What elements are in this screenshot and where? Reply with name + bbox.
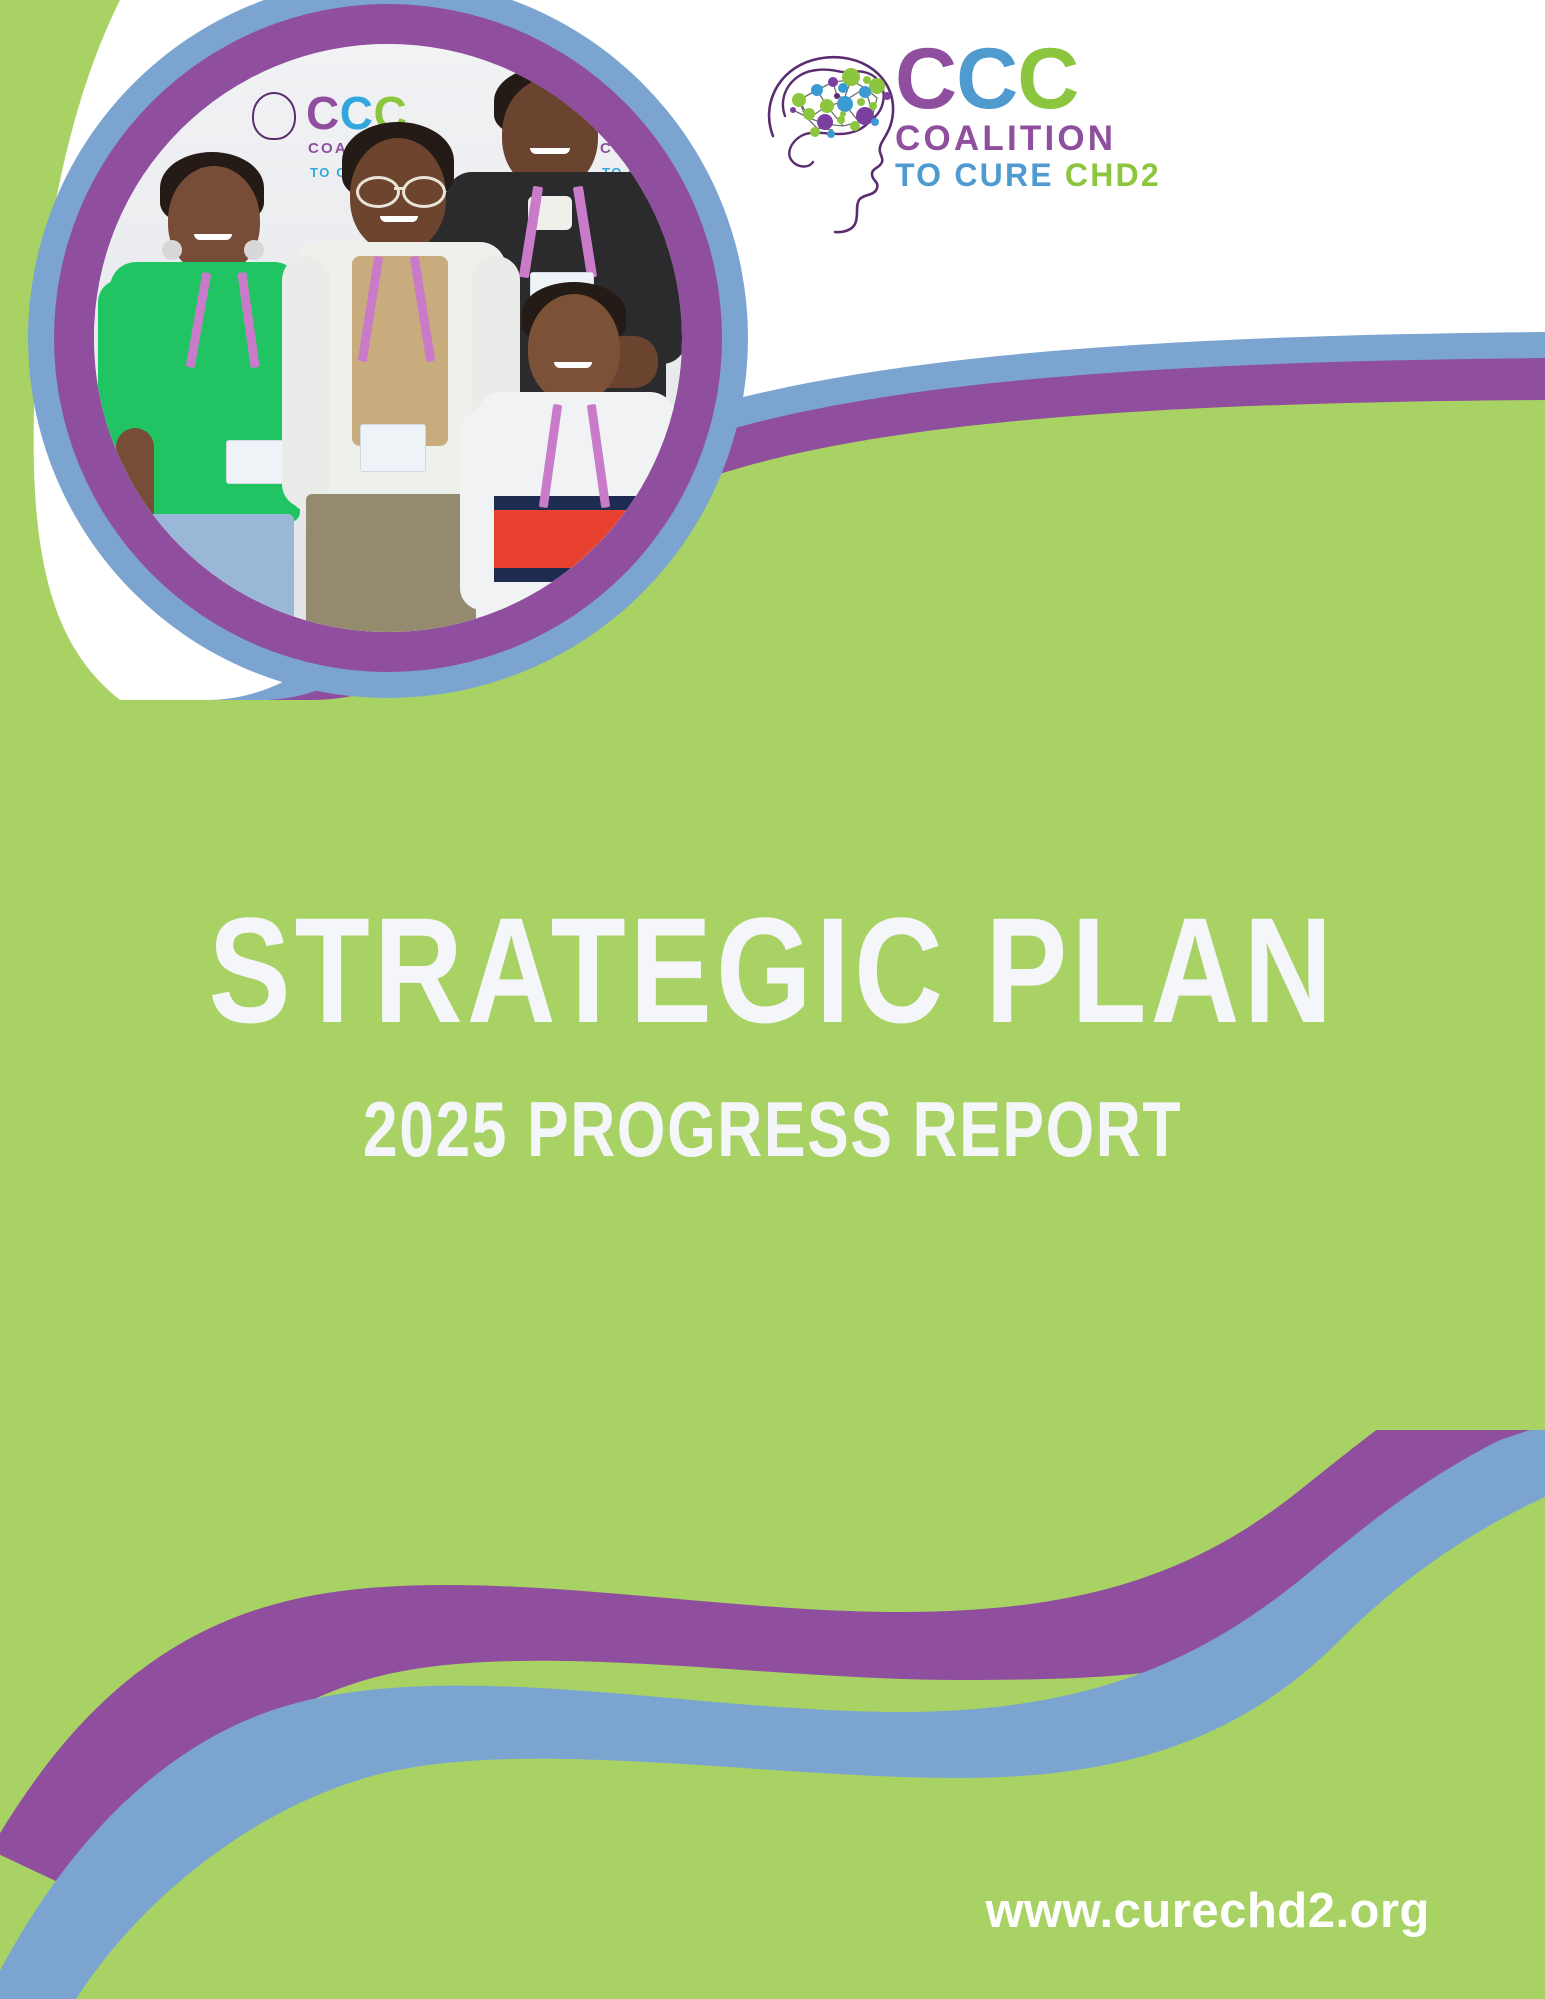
cover-page: CCC COALITION TO CURE CHD2 CCC COALITION… bbox=[0, 0, 1545, 1999]
brain-head-network-icon bbox=[755, 44, 905, 234]
brand-c3: C bbox=[1017, 31, 1078, 127]
brand-coalition-label: COALITION bbox=[895, 120, 1165, 158]
cover-photo: CCC COALITION TO CURE CHD2 CCC COALITION… bbox=[94, 44, 682, 632]
page-subtitle: 2025 PROGRESS REPORT bbox=[155, 1090, 1391, 1168]
ccc-brand-logo: CCC COALITION TO CURE CHD2 bbox=[755, 40, 1155, 245]
cover-photo-circle: CCC COALITION TO CURE CHD2 CCC COALITION… bbox=[28, 0, 748, 698]
brand-chd2-label: CHD2 bbox=[1065, 157, 1161, 193]
backdrop-cure-0: TO CURE CHD2 bbox=[458, 44, 574, 55]
website-url[interactable]: www.curechd2.org bbox=[985, 1883, 1430, 1939]
brand-to-cure-label: TO CURE bbox=[895, 157, 1054, 193]
brand-acronym: CCC bbox=[895, 40, 1165, 120]
brand-c2: C bbox=[956, 31, 1017, 127]
backdrop-ccc-2: CCC bbox=[598, 90, 682, 136]
backdrop-head-icon-1 bbox=[252, 92, 296, 140]
page-title: STRATEGIC PLAN bbox=[139, 895, 1406, 1045]
brand-c1: C bbox=[895, 31, 956, 127]
brand-tagline: TO CURE CHD2 bbox=[895, 158, 1165, 194]
backdrop-coalition-2: COALITION bbox=[600, 141, 682, 156]
